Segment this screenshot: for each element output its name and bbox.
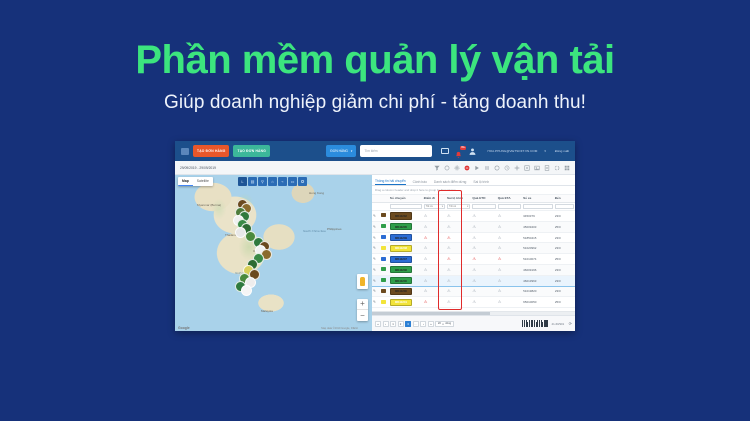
column-header-6[interactable]: Quá ETA: [497, 195, 522, 203]
cell-status: ⚠: [423, 221, 446, 232]
cell-trip-number[interactable]: 08111232: [389, 211, 423, 222]
warning-icon: ⚠: [498, 224, 502, 229]
chevron-down-icon: ▾: [442, 322, 443, 326]
page-size-value: 20: [438, 322, 441, 325]
map-marker[interactable]: [241, 285, 252, 296]
cell-status: ⚠: [446, 232, 471, 243]
warning-icon: ⚠: [447, 224, 451, 229]
cell-trip-number[interactable]: 08111240: [389, 275, 423, 286]
filter-value: Tất cả: [426, 205, 433, 208]
warning-icon: ⚠: [498, 267, 502, 272]
table-header-row: Số chuyếnĐiểm điSai lộ trìnhQuá ETDQuá E…: [372, 195, 575, 203]
clock-icon[interactable]: [504, 165, 510, 171]
street-view-pegman[interactable]: [357, 274, 368, 289]
cell-status: ⚠: [497, 297, 522, 308]
cell-vehicle-number: 51020962: [522, 243, 554, 254]
tab-1[interactable]: Cảnh báo: [413, 180, 427, 186]
pause-icon[interactable]: [484, 165, 490, 171]
warning-icon: ⚠: [498, 256, 502, 261]
warning-icon: ⚠: [424, 278, 428, 283]
cell-truck-icon: [380, 211, 388, 222]
cell-truck-icon: [380, 286, 388, 297]
truck-icon: [381, 235, 386, 239]
column-header-2[interactable]: Số chuyến: [389, 195, 423, 203]
cell-status: ⚠: [446, 254, 471, 265]
column-header-1[interactable]: [380, 195, 388, 203]
warning-icon: ⚠: [472, 278, 476, 283]
table-row[interactable]: ✎08111245⚠⚠⚠⚠4500940325/0: [372, 221, 575, 232]
cell-status: ⚠: [471, 232, 496, 243]
column-header-0[interactable]: [372, 195, 380, 203]
cell-status: ⚠: [446, 211, 471, 222]
settings-icon[interactable]: [444, 165, 450, 171]
zoom-out-button[interactable]: −: [357, 310, 368, 321]
edit-icon[interactable]: ✎: [373, 289, 376, 293]
warning-icon: ⚠: [498, 299, 502, 304]
tab-3[interactable]: Sai lộ trình: [473, 180, 489, 186]
export-image-icon[interactable]: [534, 165, 540, 171]
page-button-1[interactable]: 1: [390, 321, 396, 327]
truck-icon: [381, 300, 386, 304]
warning-icon: ⚠: [424, 256, 428, 261]
monitor-icon[interactable]: [441, 148, 449, 154]
hero-section: Phần mềm quản lý vận tải Giúp doanh nghi…: [0, 38, 750, 114]
table-row[interactable]: ✎08111240⚠⚠⚠⚠4601396323/0: [372, 275, 575, 286]
chevron-down-icon: ▾: [351, 149, 353, 153]
cell-edit[interactable]: ✎: [372, 254, 380, 265]
pagination-bar: « ‹ 123... › » 20 ▾ dòng 41-60/901 ⟳: [372, 315, 575, 331]
route-icon[interactable]: ⌁: [278, 177, 287, 186]
tab-2[interactable]: Danh sách điểm dừng: [434, 180, 466, 186]
toolbar-icon-group: [434, 165, 570, 171]
app-toolbar: 29/09/2019 - 29/09/2019: [175, 161, 575, 175]
truck-icon: [381, 257, 386, 261]
cell-vehicle-number: 51010074: [522, 254, 554, 265]
user-icon[interactable]: [468, 147, 477, 156]
zoom-in-button[interactable]: +: [357, 299, 368, 310]
tab-0[interactable]: Thông tin hải chuyển: [375, 179, 406, 186]
warning-icon: ⚠: [447, 245, 451, 250]
cell-status: ⚠: [497, 275, 522, 286]
app-navbar: TẠO ĐƠN HÀNG TẠO ĐƠN HÀNG ĐƠN HÀNG ▾ Tìm…: [175, 141, 575, 161]
logout-link[interactable]: Đăng xuất: [555, 149, 569, 153]
cell-status: ⚠: [446, 221, 471, 232]
filter-cell: [372, 202, 380, 211]
user-menu-chevron-icon[interactable]: ▾: [544, 149, 546, 153]
cell-trip-number[interactable]: 08111230: [389, 286, 423, 297]
warning-icon: ⚠: [424, 224, 428, 229]
map-label: Myanmar (Burma): [197, 203, 221, 207]
warning-icon: ⚠: [498, 245, 502, 250]
first-page-button[interactable]: «: [375, 321, 381, 327]
cell-edit[interactable]: ✎: [372, 211, 380, 222]
cell-trip-number[interactable]: 08111247: [389, 254, 423, 265]
cell-status: ⚠: [423, 243, 446, 254]
warning-icon: ⚠: [472, 299, 476, 304]
refresh-icon[interactable]: [494, 165, 500, 171]
edit-icon[interactable]: ✎: [373, 236, 376, 240]
barcode-icon: [522, 320, 548, 327]
cell-status: ⚠: [497, 221, 522, 232]
cell-vehicle-number: 51850415: [522, 232, 554, 243]
cell-trip-number[interactable]: 08111249: [389, 232, 423, 243]
table-row[interactable]: ✎08111246⚠⚠⚠⚠4600919623/0: [372, 265, 575, 276]
cell-truck-icon: [380, 243, 388, 254]
filter-cell: [380, 202, 388, 211]
cell-status: ⚠: [471, 211, 496, 222]
cell-arrival-date: 23/0: [554, 211, 575, 222]
filter-icon[interactable]: [434, 165, 440, 171]
edit-icon[interactable]: ✎: [373, 279, 376, 283]
filter-cell-diem-di[interactable]: Tất cả▾: [423, 202, 446, 211]
date-range-filter[interactable]: 29/09/2019 - 29/09/2019: [180, 166, 216, 170]
warning-icon: ⚠: [424, 245, 428, 250]
warning-icon: ⚠: [472, 267, 476, 272]
notification-badge: 99+: [460, 146, 466, 150]
page-title: Phần mềm quản lý vận tải: [0, 38, 750, 83]
map-type-satellite[interactable]: Satellite: [193, 177, 213, 186]
pin-icon[interactable]: ⚲: [258, 177, 267, 186]
page-button-3[interactable]: 3: [405, 321, 411, 327]
cell-arrival-date: 23/0: [554, 243, 575, 254]
filter-cell-so-xe[interactable]: [522, 202, 554, 211]
filter-cell-sai-lo-trinh[interactable]: Tất cả▾: [446, 202, 471, 211]
tab-bar: Thông tin hải chuyểnCảnh báoDanh sách đi…: [372, 175, 575, 186]
warning-icon: ⚠: [424, 299, 428, 304]
next-page-button[interactable]: ›: [420, 321, 426, 327]
warning-icon: ⚠: [472, 288, 476, 293]
grid-icon[interactable]: [564, 165, 570, 171]
warning-icon: ⚠: [498, 213, 502, 218]
bell-glyph: [454, 151, 463, 160]
warning-icon: ⚠: [472, 235, 476, 240]
map-label: Hong Kong: [309, 191, 324, 195]
column-header-3[interactable]: Điểm đi: [423, 195, 446, 203]
warning-icon: ⚠: [424, 213, 428, 218]
table-row[interactable]: ✎08111241⚠⚠⚠⚠6501005025/0: [372, 297, 575, 308]
cell-edit[interactable]: ✎: [372, 243, 380, 254]
trips-table: Số chuyếnĐiểm điSai lộ trìnhQuá ETDQuá E…: [372, 195, 575, 309]
home-icon[interactable]: ⌂: [268, 177, 277, 186]
truck-icon: [381, 278, 386, 282]
cell-status: ⚠: [471, 254, 496, 265]
edit-icon[interactable]: ✎: [373, 300, 376, 304]
search-input[interactable]: Tìm kiếm: [360, 145, 432, 157]
export-pdf-icon[interactable]: [544, 165, 550, 171]
warning-icon: ⚠: [447, 235, 451, 240]
map-pane[interactable]: Myanmar (Burma) Laos Thailand Cambodia S…: [175, 175, 372, 331]
sync-icon[interactable]: [554, 165, 560, 171]
map-label: South China Sea: [303, 229, 326, 233]
cell-status: ⚠: [497, 232, 522, 243]
cell-edit[interactable]: ✎: [372, 232, 380, 243]
truck-icon: [381, 213, 386, 217]
table-row[interactable]: ✎08111230⚠⚠⚠⚠5101982023/0: [372, 286, 575, 297]
table-row[interactable]: ✎08111248⚠⚠⚠⚠5102096223/0: [372, 243, 575, 254]
create-trip-button[interactable]: TẠO ĐƠN HÀNG: [233, 145, 269, 157]
truck-icon[interactable]: ▤: [248, 177, 257, 186]
cell-edit[interactable]: ✎: [372, 286, 380, 297]
cell-arrival-date: 25/0: [554, 297, 575, 308]
warning-icon: ⚠: [424, 288, 428, 293]
cell-status: ⚠: [446, 243, 471, 254]
cell-status: ⚠: [497, 243, 522, 254]
bell-icon[interactable]: 99+: [454, 147, 463, 156]
cell-status: ⚠: [423, 286, 446, 297]
warning-icon: ⚠: [447, 267, 451, 272]
google-logo: Google: [178, 326, 190, 330]
filter-cell-so-chuyen[interactable]: [389, 202, 423, 211]
warning-icon: ⚠: [447, 213, 451, 218]
cell-status: ⚠: [471, 221, 496, 232]
page-subtitle: Giúp doanh nghiệp giảm chi phí - tăng do…: [0, 92, 750, 114]
cell-trip-number[interactable]: 08111241: [389, 297, 423, 308]
stop-icon[interactable]: [464, 165, 470, 171]
last-page-button[interactable]: »: [428, 321, 434, 327]
cell-vehicle-number: 46009196: [522, 265, 554, 276]
cell-status: ⚠: [423, 254, 446, 265]
export-excel-icon[interactable]: [524, 165, 530, 171]
cell-edit[interactable]: ✎: [372, 221, 380, 232]
cell-truck-icon: [380, 232, 388, 243]
truck-icon: [381, 224, 386, 228]
edit-icon[interactable]: ✎: [373, 225, 376, 229]
add-icon[interactable]: [514, 165, 520, 171]
filter-cell-qua-eta[interactable]: [497, 202, 522, 211]
cell-edit[interactable]: ✎: [372, 275, 380, 286]
column-header-7[interactable]: Số xe: [522, 195, 554, 203]
warning-icon: ⚠: [447, 278, 451, 283]
cell-trip-number[interactable]: 08111248: [389, 243, 423, 254]
cell-arrival-date: 25/0: [554, 254, 575, 265]
refresh-icon[interactable]: ⟳: [569, 321, 572, 326]
cell-status: ⚠: [446, 286, 471, 297]
cell-status: ⚠: [471, 243, 496, 254]
pagination-info: 41-60/901: [552, 322, 565, 326]
warning-icon: ⚠: [498, 235, 502, 240]
cell-status: ⚠: [497, 254, 522, 265]
truck-icon: [381, 246, 386, 250]
cell-truck-icon: [380, 265, 388, 276]
table-row[interactable]: ✎08111249⚠⚠⚠⚠5185041523/0: [372, 232, 575, 243]
cell-trip-number[interactable]: 08111246: [389, 265, 423, 276]
hamburger-icon[interactable]: [181, 148, 189, 155]
map-label: Philippines: [327, 227, 342, 231]
column-header-8[interactable]: Đến: [554, 195, 575, 203]
warning-icon: ⚠: [424, 267, 428, 272]
navbar-icons: 99+: [441, 147, 477, 156]
edit-icon[interactable]: ✎: [373, 246, 376, 250]
chevron-down-icon: ▾: [442, 205, 443, 208]
cell-truck-icon: [380, 297, 388, 308]
filter-value: Tất cả: [449, 205, 456, 208]
play-icon[interactable]: [474, 165, 480, 171]
page-size-label: dòng: [445, 322, 451, 325]
cell-status: ⚠: [446, 265, 471, 276]
map-type-toggle[interactable]: Map Satellite: [178, 177, 213, 186]
filter-cell-qua-etd[interactable]: [471, 202, 496, 211]
gear-icon[interactable]: [454, 165, 460, 171]
cell-edit[interactable]: ✎: [372, 297, 380, 308]
warning-icon: ⚠: [447, 299, 451, 304]
app-screenshot: TẠO ĐƠN HÀNG TẠO ĐƠN HÀNG ĐƠN HÀNG ▾ Tìm…: [175, 141, 575, 331]
edit-icon[interactable]: ✎: [373, 257, 376, 261]
table-filter-row: Tất cả▾ Tất cả▾: [372, 202, 575, 211]
page-button-...[interactable]: ...: [413, 321, 419, 327]
page-button-2[interactable]: 2: [398, 321, 404, 327]
cell-truck-icon: [380, 254, 388, 265]
ruler-icon[interactable]: ▭: [288, 177, 297, 186]
cell-status: ⚠: [471, 275, 496, 286]
cell-status: ⚠: [497, 286, 522, 297]
cell-arrival-date: 23/0: [554, 232, 575, 243]
cell-status: ⚠: [423, 211, 446, 222]
layers-icon[interactable]: L: [238, 177, 247, 186]
create-order-button[interactable]: TẠO ĐƠN HÀNG: [193, 145, 229, 157]
cell-truck-icon: [380, 221, 388, 232]
cell-arrival-date: 23/0: [554, 265, 575, 276]
cell-vehicle-number: 51019820: [522, 286, 554, 297]
cell-vehicle-number: 3450379: [522, 211, 554, 222]
cell-status: ⚠: [497, 265, 522, 276]
warning-icon: ⚠: [424, 235, 428, 240]
filter-cell-den[interactable]: [554, 202, 575, 211]
warning-icon: ⚠: [447, 288, 451, 293]
promo-banner: Phần mềm quản lý vận tải Giúp doanh nghi…: [0, 0, 750, 421]
group-by-hint[interactable]: Drag a column header and drop it here to…: [372, 186, 575, 195]
map-type-map[interactable]: Map: [178, 177, 193, 186]
user-email[interactable]: HOA.PHUNG@VIETSOFT.VN.COM: [487, 149, 537, 153]
cell-arrival-date: 23/0: [554, 275, 575, 286]
cell-vehicle-number: 45009403: [522, 221, 554, 232]
app-body: Myanmar (Burma) Laos Thailand Cambodia S…: [175, 175, 575, 331]
table-row[interactable]: ✎08111232⚠⚠⚠⚠345037923/0: [372, 211, 575, 222]
truck-icon: [381, 289, 386, 293]
warning-icon: ⚠: [472, 256, 476, 261]
page-size-select[interactable]: 20 ▾ dòng: [435, 321, 453, 327]
cell-status: ⚠: [446, 275, 471, 286]
warning-icon: ⚠: [472, 245, 476, 250]
table-pane: Thông tin hải chuyểnCảnh báoDanh sách đi…: [372, 175, 575, 331]
column-header-4[interactable]: Sai lộ trình: [446, 195, 471, 203]
map-zoom-control[interactable]: + −: [357, 299, 368, 321]
table-body: ✎08111232⚠⚠⚠⚠345037923/0✎08111245⚠⚠⚠⚠450…: [372, 211, 575, 308]
cell-status: ⚠: [471, 297, 496, 308]
warning-icon: ⚠: [498, 278, 502, 283]
column-header-5[interactable]: Quá ETD: [471, 195, 496, 203]
cell-trip-number[interactable]: 08111245: [389, 221, 423, 232]
cell-arrival-date: 25/0: [554, 221, 575, 232]
cell-status: ⚠: [423, 232, 446, 243]
table-row[interactable]: ✎08111247⚠⚠⚠⚠5101007425/0: [372, 254, 575, 265]
cell-status: ⚠: [446, 297, 471, 308]
module-select[interactable]: ĐƠN HÀNG ▾: [326, 145, 356, 157]
warning-icon: ⚠: [472, 213, 476, 218]
cell-vehicle-number: 65010050: [522, 297, 554, 308]
warning-icon: ⚠: [472, 224, 476, 229]
truck-icon: [381, 267, 386, 271]
page-number-group: 123...: [390, 321, 419, 327]
map-label: Malaysia: [261, 309, 273, 313]
map-vegetation: [175, 175, 372, 331]
cell-vehicle-number: 46013963: [522, 275, 554, 286]
cell-status: ⚠: [423, 265, 446, 276]
horizontal-scrollbar[interactable]: [372, 311, 575, 315]
cell-arrival-date: 23/0: [554, 286, 575, 297]
edit-icon[interactable]: ✎: [373, 214, 376, 218]
cell-status: ⚠: [423, 275, 446, 286]
map-tool-group: L ▤ ⚲ ⌂ ⌁ ▭ ✪: [238, 177, 307, 186]
cell-status: ⚠: [471, 265, 496, 276]
settings-icon[interactable]: ✪: [298, 177, 307, 186]
cell-status: ⚠: [471, 286, 496, 297]
chevron-down-icon: ▾: [467, 205, 468, 208]
map-attribution: Map data ©2019 Google, INEGI: [321, 327, 358, 330]
cell-status: ⚠: [423, 297, 446, 308]
warning-icon: ⚠: [447, 256, 451, 261]
cell-edit[interactable]: ✎: [372, 265, 380, 276]
module-select-label: ĐƠN HÀNG: [330, 149, 347, 153]
prev-page-button[interactable]: ‹: [383, 321, 389, 327]
cell-truck-icon: [380, 275, 388, 286]
warning-icon: ⚠: [498, 288, 502, 293]
cell-status: ⚠: [497, 211, 522, 222]
edit-icon[interactable]: ✎: [373, 268, 376, 272]
